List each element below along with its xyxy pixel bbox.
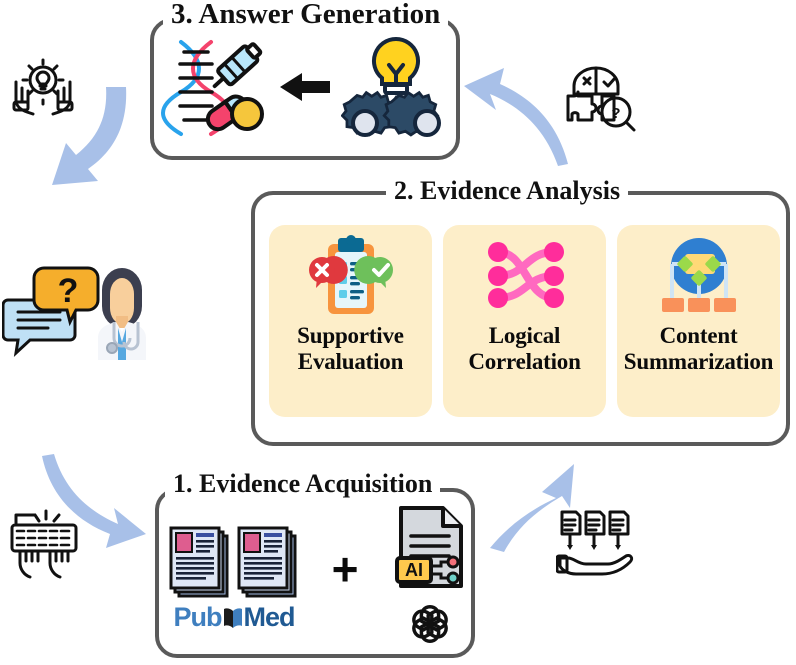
panel-evidence-analysis: Supportive Evaluation	[251, 191, 790, 446]
card-content-summarization-label: Content Summarization	[624, 323, 773, 375]
card-logical-correlation[interactable]: Logical Correlation	[443, 225, 606, 417]
card-logical-correlation-label: Logical Correlation	[468, 323, 580, 375]
pubmed-logo-pub: Pub	[174, 602, 222, 633]
clipboard-checklist-icon	[301, 233, 401, 321]
hierarchy-summary-icon	[649, 233, 749, 321]
arrow-doctor-to-acquisition	[42, 452, 152, 567]
panel-evidence-acquisition: Pub Med +	[155, 488, 475, 658]
paper-stack-icon	[169, 524, 299, 600]
pubmed-logo: Pub Med	[174, 602, 295, 633]
analysis-card-list: Supportive Evaluation	[269, 225, 780, 417]
dna-syringe-pills-icon	[159, 34, 269, 144]
hand-receiving-documents-icon	[556, 508, 636, 585]
arrow-answer-to-doctor	[44, 85, 134, 200]
acquisition-content: Pub Med +	[169, 504, 469, 652]
figure-canvas: 3. Answer Generation	[0, 0, 796, 665]
card-supportive-evaluation-label: Supportive Evaluation	[297, 323, 404, 375]
ai-badge-text: AI	[405, 560, 423, 580]
open-book-icon	[223, 605, 243, 629]
card-supportive-evaluation[interactable]: Supportive Evaluation	[269, 225, 432, 417]
panel-answer-generation	[150, 18, 460, 160]
arrow-analysis-to-answer	[460, 60, 570, 175]
ai-document-icon: AI	[391, 504, 469, 597]
panel-answer-generation-title: 3. Answer Generation	[163, 0, 448, 29]
crossing-nodes-icon	[475, 233, 575, 321]
doctor-question-icon: ?	[2, 252, 150, 367]
card-content-summarization[interactable]: Content Summarization	[617, 225, 780, 417]
panel-evidence-analysis-title: 2. Evidence Analysis	[386, 178, 628, 204]
brain-analysis-icon: ?	[558, 62, 636, 139]
plus-icon: +	[332, 546, 359, 592]
lightbulb-gears-icon	[341, 33, 451, 146]
svg-text:?: ?	[58, 272, 79, 310]
openai-logo-icon	[407, 601, 453, 652]
answer-generation-content	[154, 22, 456, 156]
panel-evidence-acquisition-title: 1. Evidence Acquisition	[165, 471, 440, 497]
pubmed-source[interactable]: Pub Med	[169, 524, 299, 633]
pubmed-logo-med: Med	[244, 602, 295, 633]
openai-source[interactable]: AI	[391, 504, 469, 652]
left-arrow-icon	[278, 69, 332, 110]
svg-text:?: ?	[611, 105, 620, 122]
